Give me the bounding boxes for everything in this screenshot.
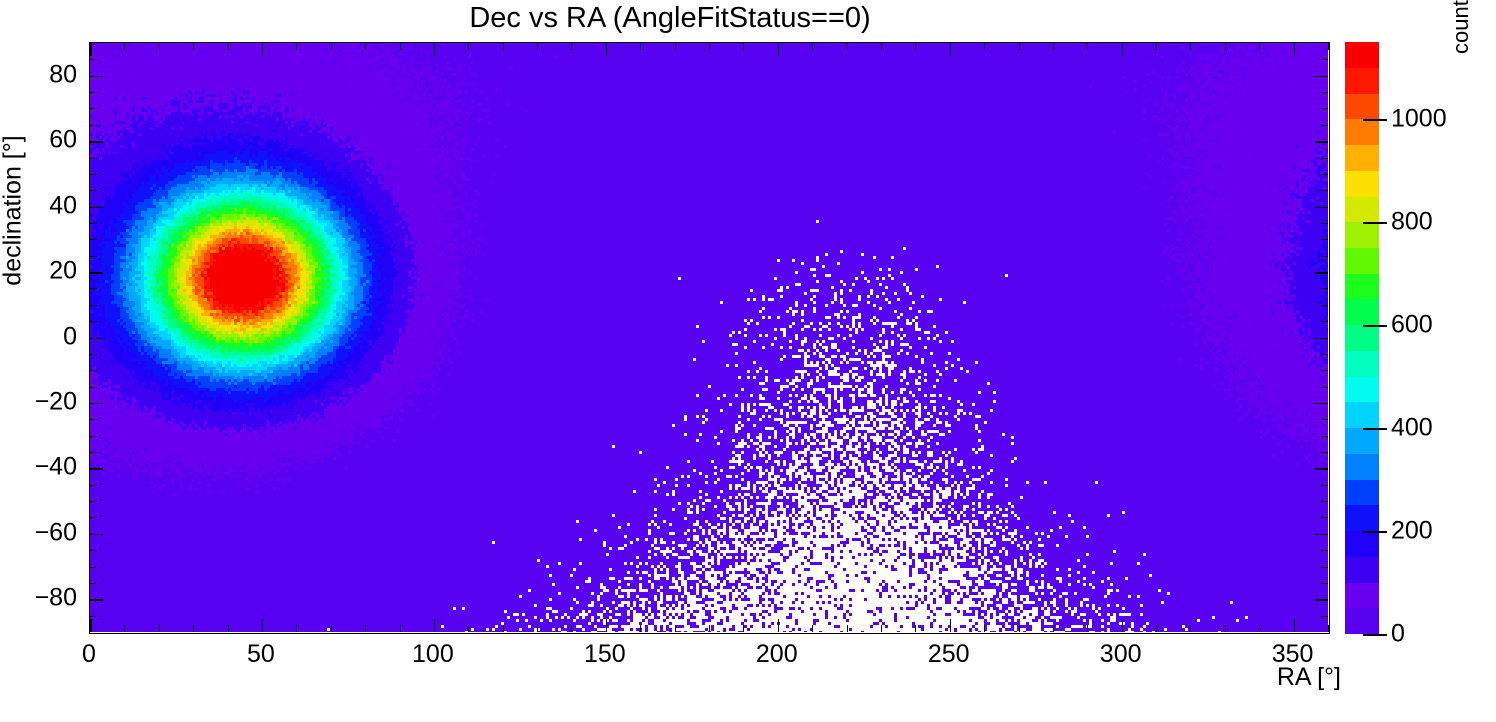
colorbar-band xyxy=(1345,377,1379,403)
colorbar-band xyxy=(1345,145,1379,171)
x-tick-label: 250 xyxy=(928,640,970,669)
x-tick-label: 50 xyxy=(247,640,275,669)
x-tick-label: 150 xyxy=(584,640,626,669)
y-axis-title: declination [°] xyxy=(0,135,28,285)
x-tick-label: 0 xyxy=(82,640,96,669)
colorbar-band xyxy=(1345,274,1379,300)
x-minor-tick-top xyxy=(1328,43,1329,50)
colorbar-tick-label: 200 xyxy=(1391,517,1433,546)
y-tick-label: 0 xyxy=(0,322,77,351)
x-tick-label: 100 xyxy=(412,640,454,669)
colorbar-band xyxy=(1345,325,1379,351)
y-tick-label: −80 xyxy=(0,584,77,613)
y-tick-label: 80 xyxy=(0,60,77,89)
colorbar-band xyxy=(1345,68,1379,94)
colorbar-band xyxy=(1345,42,1379,68)
page-title: Dec vs RA (AngleFitStatus==0) xyxy=(0,2,1340,35)
colorbar-tick-label: 800 xyxy=(1391,208,1433,237)
colorbar-band xyxy=(1345,480,1379,506)
colorbar-band xyxy=(1345,531,1379,557)
colorbar-band xyxy=(1345,171,1379,197)
colorbar-title: count xyxy=(1448,0,1474,54)
colorbar-band xyxy=(1345,583,1379,609)
colorbar-tick xyxy=(1363,634,1387,636)
colorbar-band xyxy=(1345,197,1379,223)
plot-frame xyxy=(89,42,1330,634)
colorbar-tick-label: 600 xyxy=(1391,311,1433,340)
colorbar-band xyxy=(1345,428,1379,454)
colorbar-band xyxy=(1345,222,1379,248)
colorbar-tick-label: 0 xyxy=(1391,620,1405,649)
colorbar-band xyxy=(1345,299,1379,325)
colorbar-band xyxy=(1345,248,1379,274)
colorbar-band xyxy=(1345,454,1379,480)
x-axis-title: RA [°] xyxy=(1277,663,1341,692)
histogram-canvas xyxy=(90,43,1328,632)
colorbar-band xyxy=(1345,351,1379,377)
colorbar-band xyxy=(1345,402,1379,428)
y-tick-label: −60 xyxy=(0,518,77,547)
x-tick-label: 300 xyxy=(1100,640,1142,669)
colorbar-band xyxy=(1345,94,1379,120)
colorbar-band xyxy=(1345,505,1379,531)
colorbar-band xyxy=(1345,557,1379,583)
colorbar-tick-label: 400 xyxy=(1391,414,1433,443)
colorbar[interactable] xyxy=(1345,42,1379,634)
y-tick-label: −20 xyxy=(0,387,77,416)
colorbar-band xyxy=(1345,608,1379,634)
x-tick-label: 200 xyxy=(756,640,798,669)
x-minor-tick xyxy=(1328,625,1329,632)
colorbar-band xyxy=(1345,119,1379,145)
y-tick-label: −40 xyxy=(0,453,77,482)
chart-root: Dec vs RA (AngleFitStatus==0) 0501001502… xyxy=(0,0,1496,722)
colorbar-tick-label: 1000 xyxy=(1391,105,1447,134)
